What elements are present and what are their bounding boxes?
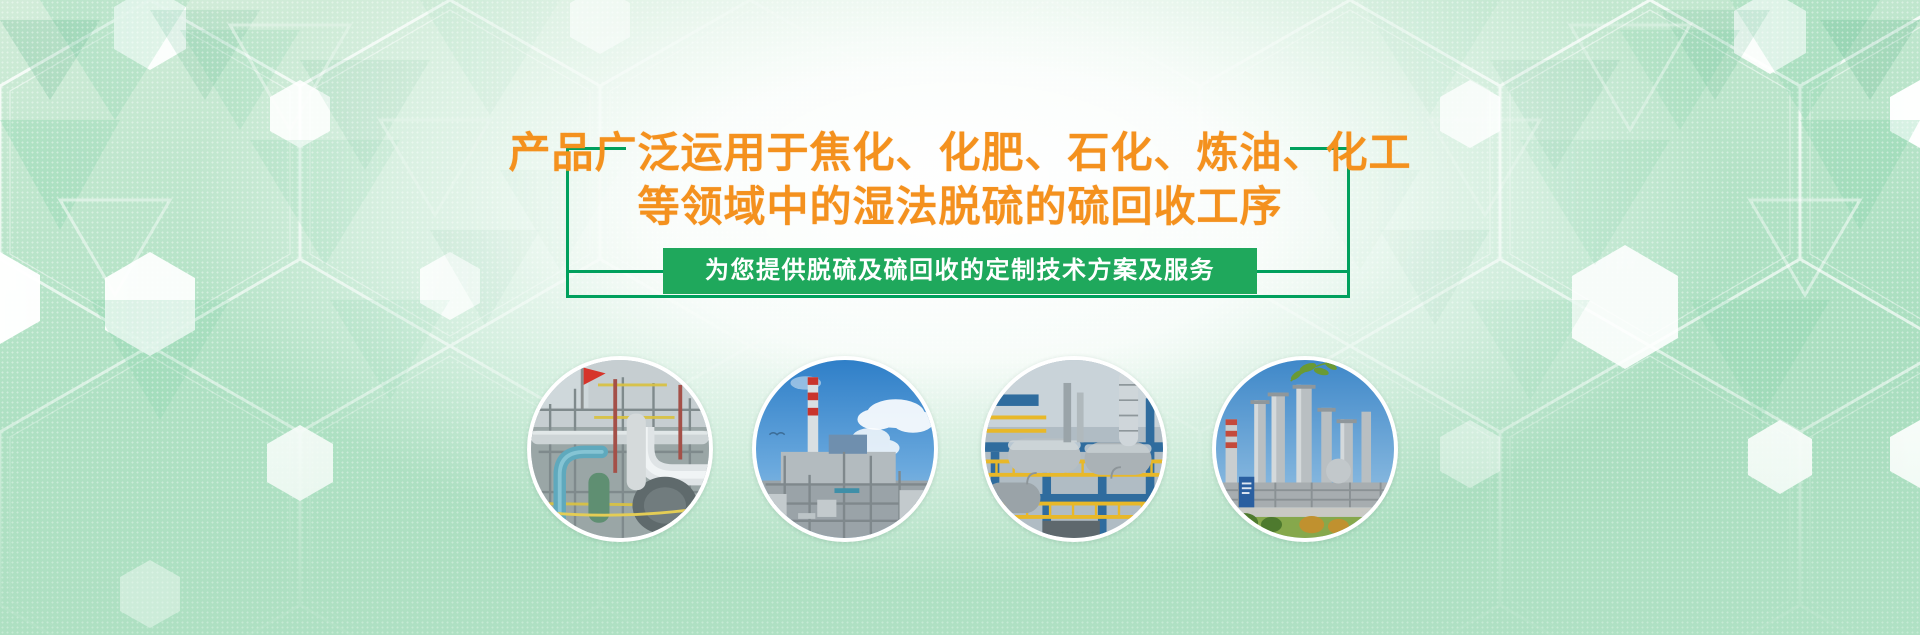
headline-line-1: 产品广泛运用于焦化、化肥、石化、炼油、化工 [0,126,1920,180]
photo-chimney-stack-plant[interactable] [752,356,938,542]
photo-refinery-distillation-columns[interactable] [1212,356,1398,542]
photo-strip [0,356,1920,544]
page-title: 产品广泛运用于焦化、化肥、石化、炼油、化工 等领域中的湿法脱硫的硫回收工序 [0,126,1920,234]
subtitle-left-rule [566,270,666,273]
subtitle-right-rule [1254,270,1350,273]
subtitle-bar-wrapper: 为您提供脱硫及硫回收的定制技术方案及服务 [0,248,1920,294]
photo-desulfurization-plant-piping[interactable] [527,356,713,542]
headline-line-2: 等领域中的湿法脱硫的硫回收工序 [0,180,1920,234]
photo-pressure-vessel-platform[interactable] [981,356,1167,542]
hero-banner: 产品广泛运用于焦化、化肥、石化、炼油、化工 等领域中的湿法脱硫的硫回收工序 为您… [0,0,1920,635]
subtitle-bar: 为您提供脱硫及硫回收的定制技术方案及服务 [663,248,1257,294]
